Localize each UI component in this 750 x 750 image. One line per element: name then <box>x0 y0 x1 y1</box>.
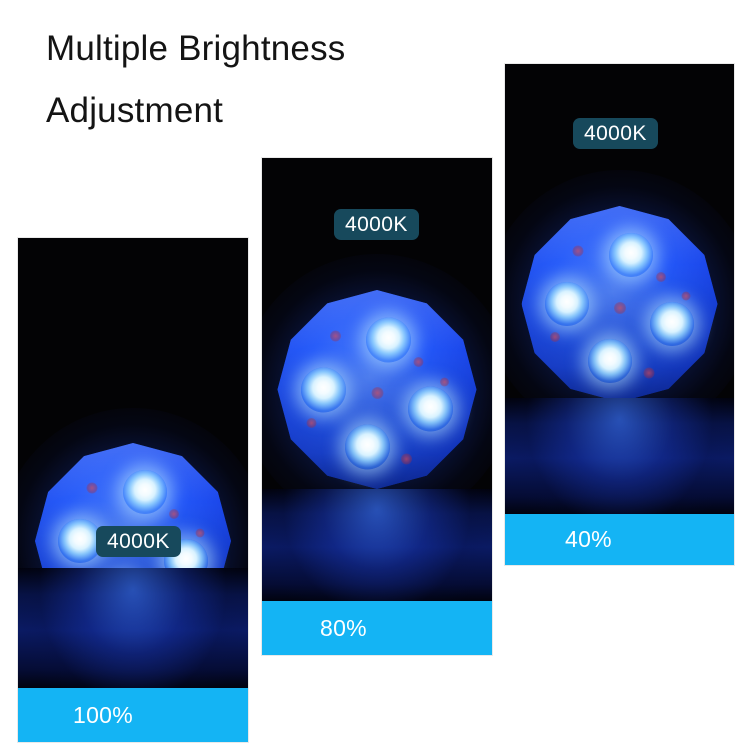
indicator-dot <box>643 367 654 378</box>
brightness-panel-40: 4000K 40% <box>505 64 734 565</box>
indicator-dot <box>573 246 584 257</box>
indicator-dot <box>306 418 316 428</box>
brightness-value: 40% <box>565 526 612 553</box>
brightness-panel-80: 4000K 80% <box>262 158 492 655</box>
indicator-dot <box>169 509 179 519</box>
brightness-footer: 40% <box>505 514 734 565</box>
indicator-dot <box>371 387 383 399</box>
led-emitter <box>609 233 653 277</box>
indicator-dot <box>330 330 341 341</box>
brightness-value: 80% <box>320 615 367 642</box>
surface-reflection <box>505 398 734 514</box>
surface-reflection <box>18 568 248 688</box>
page-title-line-2: Adjustment <box>46 80 516 142</box>
led-emitter <box>366 317 411 362</box>
page-title: Multiple Brightness Adjustment <box>46 18 516 142</box>
surface-reflection <box>262 489 492 601</box>
color-temperature-badge: 4000K <box>96 526 181 557</box>
indicator-dot <box>440 377 449 386</box>
led-disc <box>522 206 718 402</box>
led-emitter <box>345 425 390 470</box>
brightness-footer: 80% <box>262 601 492 655</box>
indicator-dot <box>614 302 626 314</box>
color-temperature-badge: 4000K <box>573 118 658 149</box>
indicator-dot <box>414 357 424 367</box>
led-emitter <box>408 387 453 432</box>
led-disc <box>278 290 477 489</box>
led-emitter <box>301 367 346 412</box>
indicator-dot <box>682 292 691 301</box>
led-emitter <box>123 470 167 514</box>
led-emitter <box>545 282 589 326</box>
brightness-footer: 100% <box>18 688 248 742</box>
indicator-dot <box>401 454 412 465</box>
indicator-dot <box>550 332 560 342</box>
indicator-dot <box>195 529 204 538</box>
brightness-panel-100: 4000K 100% <box>18 238 248 742</box>
indicator-dot <box>86 483 97 494</box>
led-emitter <box>588 339 632 383</box>
page-title-line-1: Multiple Brightness <box>46 18 516 80</box>
led-emitter <box>650 302 694 346</box>
brightness-value: 100% <box>73 702 133 729</box>
product-photo <box>18 238 248 688</box>
indicator-dot <box>656 272 666 282</box>
color-temperature-badge: 4000K <box>334 209 419 240</box>
